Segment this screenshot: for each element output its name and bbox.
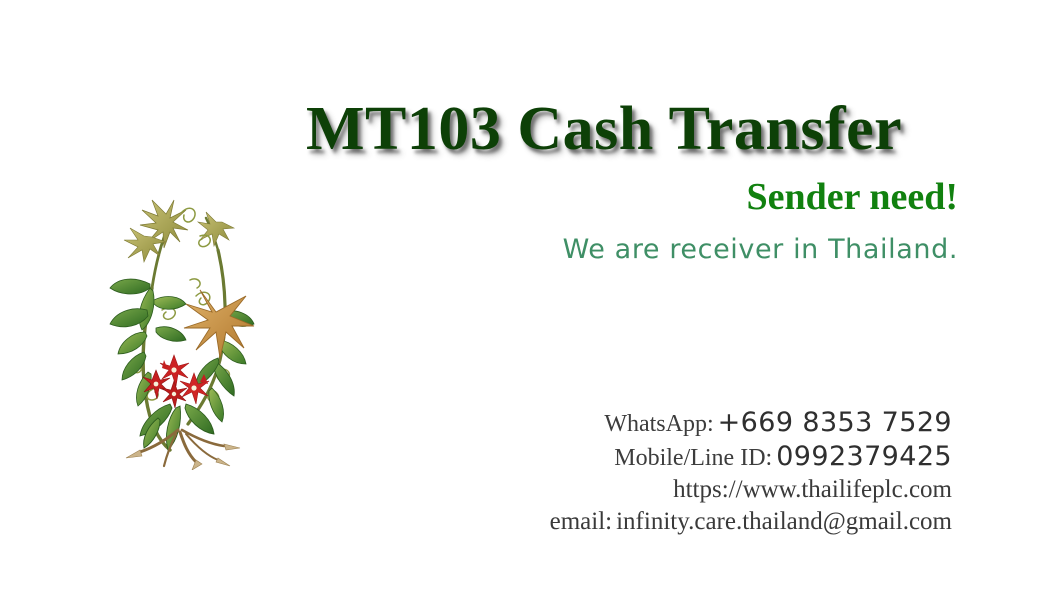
- contact-line-website: https://www.thailifeplc.com: [550, 474, 952, 506]
- whatsapp-label: WhatsApp:: [604, 411, 713, 437]
- red-flower: [162, 381, 187, 408]
- contact-line-whatsapp: WhatsApp: +669 8353 7529: [550, 406, 952, 440]
- leaf-cluster-bottom: [140, 404, 214, 450]
- email-address[interactable]: infinity.care.thailand@gmail.com: [616, 508, 952, 535]
- page-tagline: We are receiver in Thailand.: [306, 235, 958, 265]
- mobile-line-id-label: Mobile/Line ID:: [614, 445, 772, 471]
- page-title: MT103 Cash Transfer: [306, 98, 966, 160]
- email-label: email:: [550, 508, 612, 535]
- contact-block: WhatsApp: +669 8353 7529 Mobile/Line ID:…: [550, 406, 952, 537]
- bud-spray-top-right: [198, 212, 234, 246]
- autumn-star-leaf: [184, 290, 254, 358]
- poster-canvas: MT103 Cash Transfer Sender need! We are …: [0, 0, 1063, 600]
- contact-line-mobile: Mobile/Line ID: 0992379425: [550, 440, 952, 474]
- floral-vine-wreath-illustration: [100, 192, 260, 470]
- contact-line-email: email: infinity.care.thailand@gmail.com: [550, 506, 952, 538]
- page-subtitle: Sender need!: [306, 178, 958, 218]
- mobile-line-id-number[interactable]: 0992379425: [776, 441, 952, 472]
- whatsapp-number[interactable]: +669 8353 7529: [718, 407, 952, 438]
- website-link[interactable]: https://www.thailifeplc.com: [673, 476, 952, 503]
- root-tips: [126, 444, 240, 470]
